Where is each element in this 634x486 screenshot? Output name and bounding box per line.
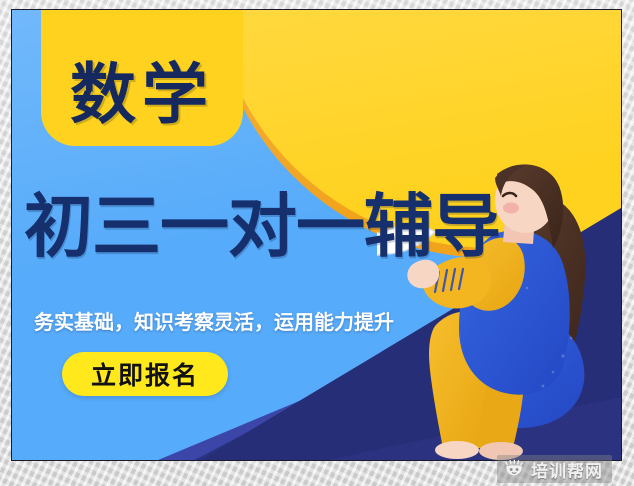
enroll-now-button-label: 立即报名	[91, 356, 199, 392]
subject-badge-label: 数学	[70, 62, 214, 128]
watermark-label: 培训帮网	[531, 457, 603, 482]
banner-subtitle: 务实基础，知识考察灵活，运用能力提升	[34, 306, 394, 335]
sun-face-icon	[504, 459, 524, 479]
watermark: 培训帮网	[497, 455, 612, 483]
enroll-now-button[interactable]: 立即报名	[62, 352, 228, 396]
banner-headline: 初三一对一辅导	[24, 193, 622, 262]
banner-frame: 数学 初三一对一辅导 务实基础，知识考察灵活，运用能力提升 立即报名	[11, 9, 622, 461]
page-backdrop: 数学 初三一对一辅导 务实基础，知识考察灵活，运用能力提升 立即报名 培训帮网	[0, 0, 634, 486]
subject-badge: 数学	[41, 9, 243, 146]
